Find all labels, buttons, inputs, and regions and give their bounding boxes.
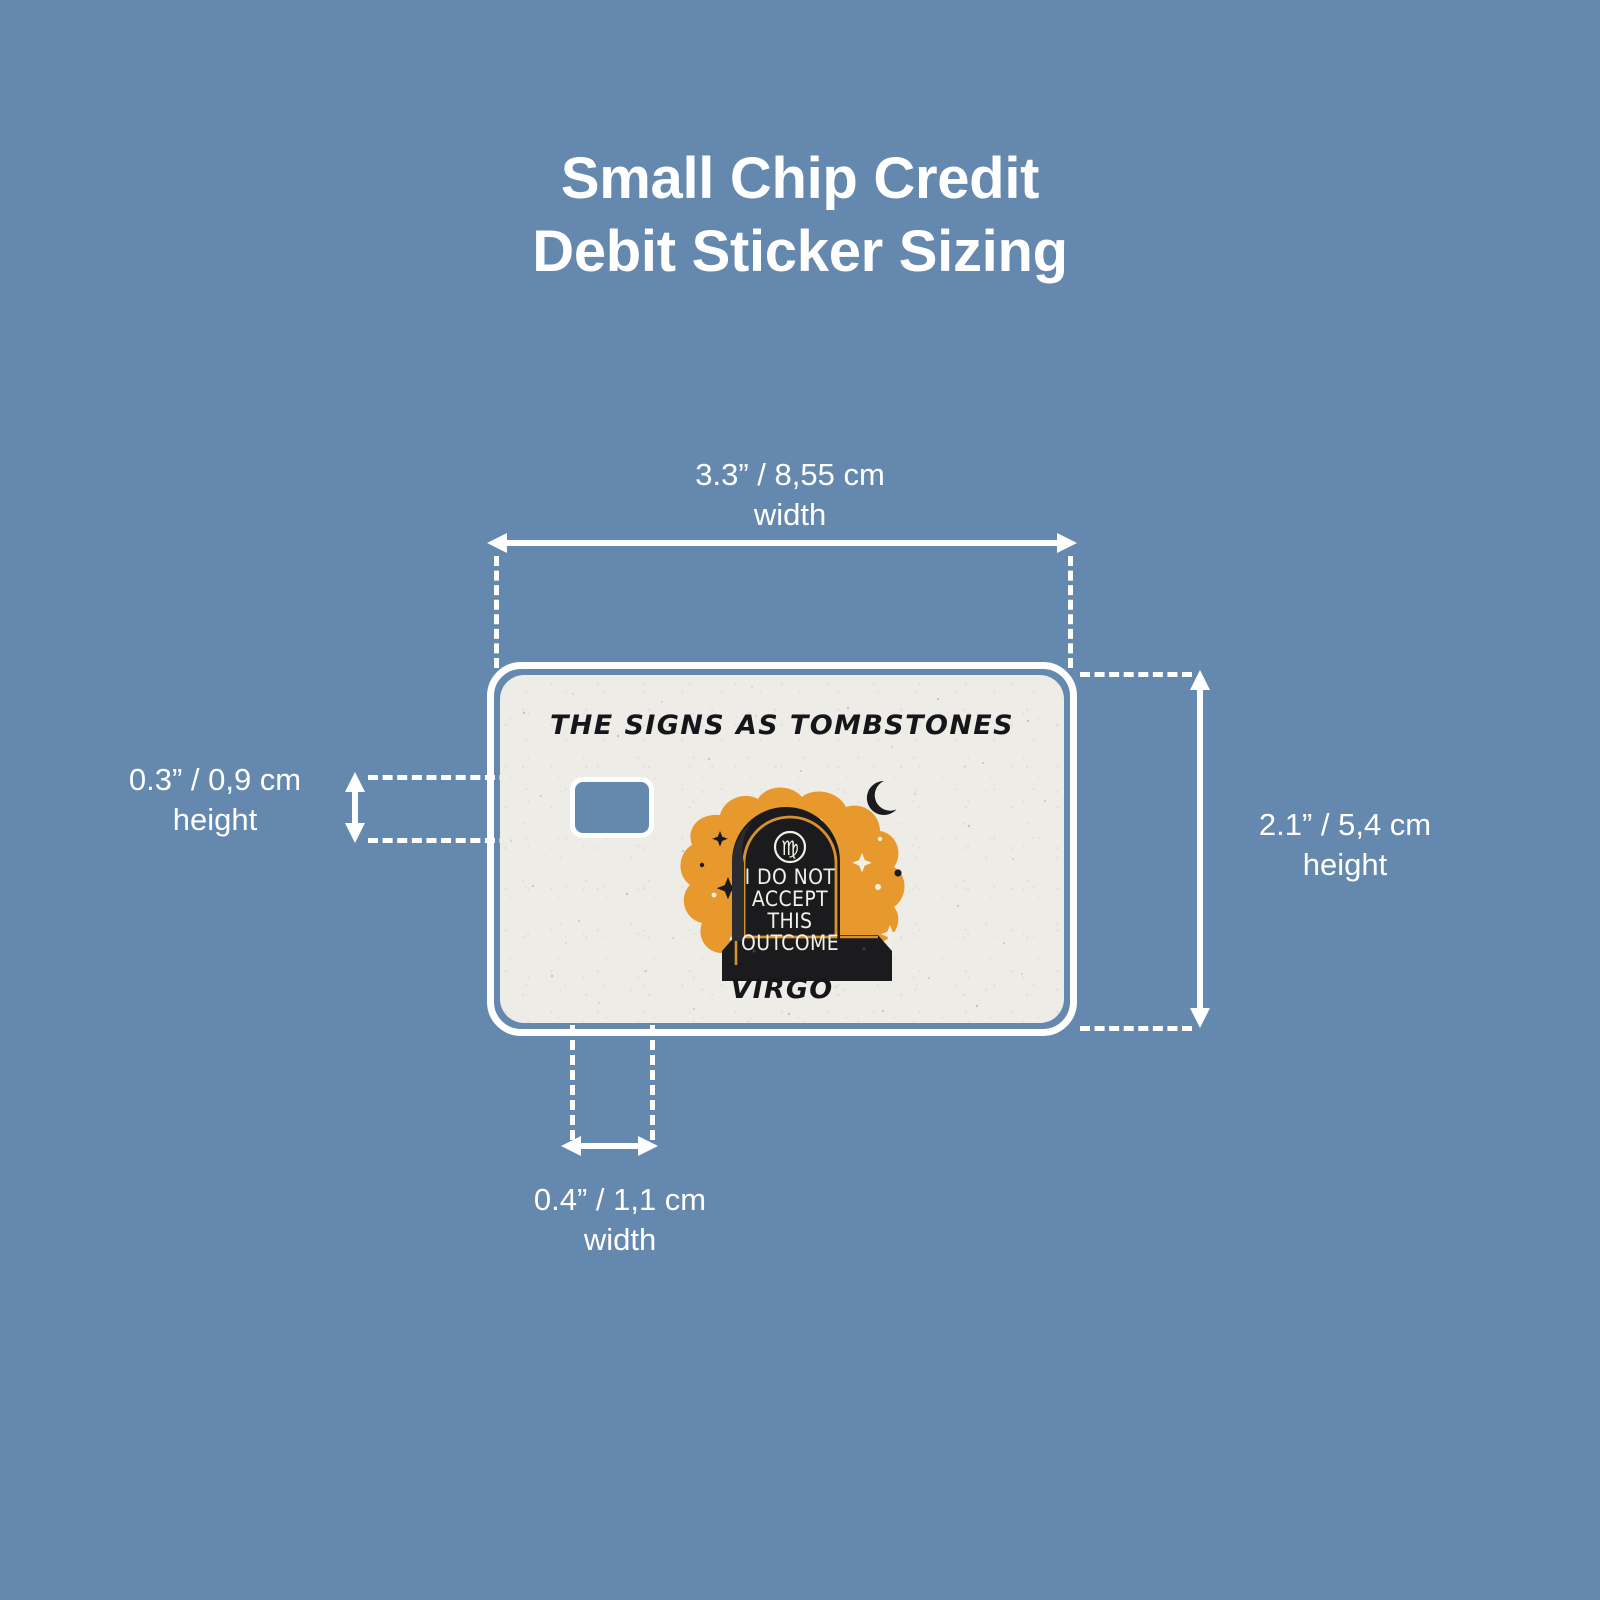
epitaph-text: I DO NOT ACCEPT THIS OUTCOME xyxy=(741,865,839,955)
svg-text:THIS: THIS xyxy=(767,909,813,933)
card-height-value: 2.1” / 5,4 cm xyxy=(1259,807,1431,842)
chip-height-arrow xyxy=(342,772,368,843)
card-width-guide-left xyxy=(494,556,499,668)
chip-width-unit: width xyxy=(470,1220,770,1260)
sticker-zodiac-sign: VIRGO xyxy=(500,974,1064,1005)
chip-height-value: 0.3” / 0,9 cm xyxy=(129,762,301,797)
card-width-unit: width xyxy=(620,495,960,535)
tombstone-illustration: ♍ I DO NOT ACCEPT THIS OUTCOME xyxy=(658,737,926,997)
card-width-label: 3.3” / 8,55 cm width xyxy=(620,455,960,534)
card-height-guide-bottom xyxy=(1080,1026,1192,1031)
credit-card-sticker[interactable]: THE SIGNS AS TOMBSTONES xyxy=(500,675,1064,1023)
card-width-arrow xyxy=(487,530,1077,556)
chip-width-value: 0.4” / 1,1 cm xyxy=(534,1182,706,1217)
svg-text:OUTCOME: OUTCOME xyxy=(741,931,839,955)
page-title-line-2: Debit Sticker Sizing xyxy=(0,215,1600,288)
sizing-diagram: Small Chip Credit Debit Sticker Sizing 3… xyxy=(0,0,1600,1600)
card-height-guide-top xyxy=(1080,672,1192,677)
svg-text:ACCEPT: ACCEPT xyxy=(752,887,828,911)
card-chip-cutout[interactable] xyxy=(570,777,654,838)
card-width-value: 3.3” / 8,55 cm xyxy=(695,457,885,492)
crescent-moon-icon xyxy=(867,781,897,815)
card-height-unit: height xyxy=(1215,845,1475,885)
svg-text:♍: ♍ xyxy=(781,836,799,860)
chip-width-label: 0.4” / 1,1 cm width xyxy=(470,1180,770,1259)
chip-height-label: 0.3” / 0,9 cm height xyxy=(90,760,340,839)
svg-text:I DO NOT: I DO NOT xyxy=(745,865,836,889)
card-height-arrow xyxy=(1187,670,1213,1028)
card-height-label: 2.1” / 5,4 cm height xyxy=(1215,805,1475,884)
page-title-line-1: Small Chip Credit xyxy=(0,142,1600,215)
chip-width-arrow xyxy=(561,1133,658,1159)
page-title: Small Chip Credit Debit Sticker Sizing xyxy=(0,142,1600,288)
chip-height-unit: height xyxy=(90,800,340,840)
card-width-guide-right xyxy=(1068,556,1073,668)
